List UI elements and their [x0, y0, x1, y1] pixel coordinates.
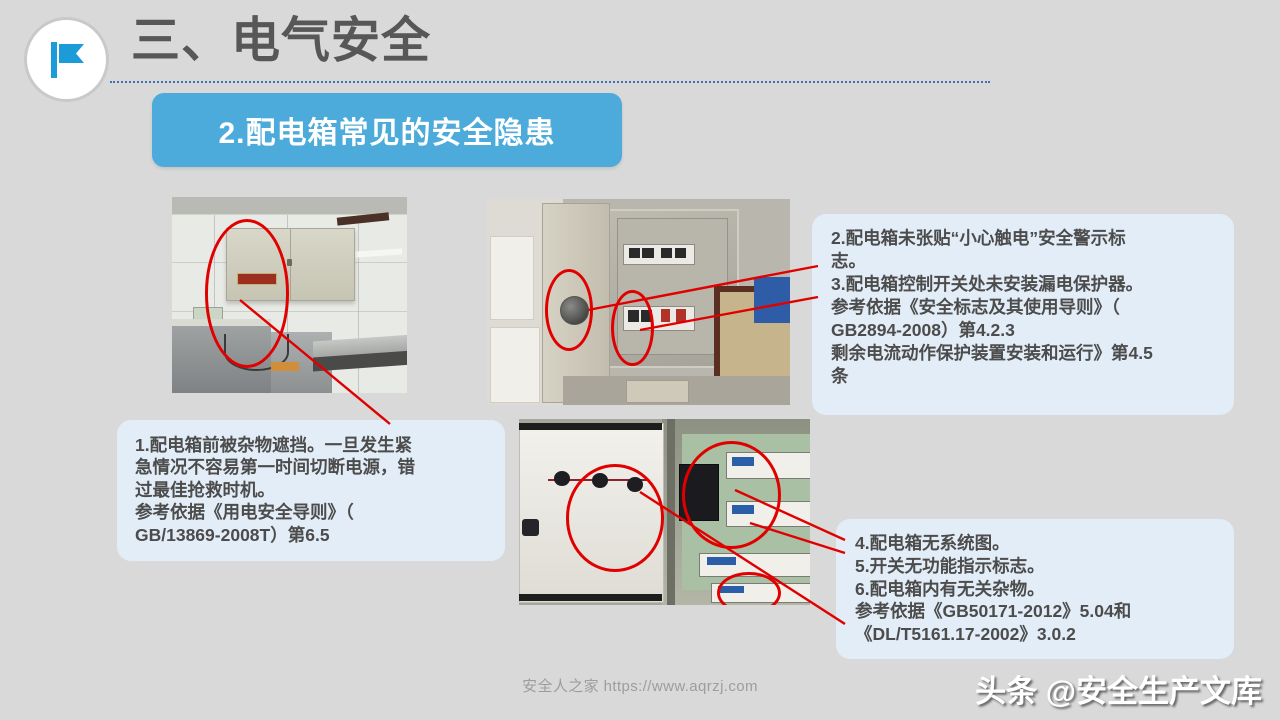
- callout-line: 《DL/T5161.17-2002》3.0.2: [855, 623, 1220, 646]
- callout-line: 剩余电流动作保护装置安装和运行》第4.5: [831, 342, 1220, 365]
- flag-icon: [44, 37, 90, 83]
- annotation-ellipse: [545, 269, 593, 351]
- slide-canvas: 三、电气安全 2.配电箱常见的安全隐患: [0, 0, 1280, 720]
- page-title: 三、电气安全: [131, 12, 431, 71]
- annotation-ellipse: [205, 219, 290, 368]
- callout-line: 1.配电箱前被杂物遮挡。一旦发生紧: [135, 434, 489, 456]
- callout-line: 参考依据《安全标志及其使用导则》（: [831, 296, 1220, 319]
- callout-box-1: 1.配电箱前被杂物遮挡。一旦发生紧 急情况不容易第一时间切断电源，错 过最佳抢救…: [117, 420, 505, 561]
- annotation-ellipse: [682, 441, 781, 549]
- callout-line: 3.配电箱控制开关处未安装漏电保护器。: [831, 273, 1220, 296]
- photo-distribution-box: [487, 199, 790, 405]
- callout-line: 条: [831, 365, 1220, 388]
- callout-line: 过最佳抢救时机。: [135, 479, 489, 501]
- callout-line: 志。: [831, 250, 1220, 273]
- annotation-ellipse: [566, 464, 665, 572]
- callout-line: 6.配电箱内有无关杂物。: [855, 578, 1220, 601]
- flag-badge: [24, 17, 109, 102]
- callout-line: 4.配电箱无系统图。: [855, 532, 1220, 555]
- annotation-ellipse: [611, 290, 653, 366]
- callout-line: GB2894-2008）第4.2.3: [831, 319, 1220, 342]
- brand-watermark: 头条 @安全生产文库: [975, 666, 1262, 711]
- title-divider: [110, 81, 990, 83]
- section-banner: 2.配电箱常见的安全隐患: [152, 93, 622, 167]
- callout-line: 参考依据《用电安全导则》（: [135, 501, 489, 523]
- callout-line: 急情况不容易第一时间切断电源，错: [135, 456, 489, 478]
- photo-kitchen-cabinet: [172, 197, 407, 393]
- photo-industrial-panel: [519, 419, 810, 605]
- callout-box-3: 4.配电箱无系统图。 5.开关无功能指示标志。 6.配电箱内有无关杂物。 参考依…: [836, 519, 1234, 659]
- callout-line: 2.配电箱未张贴“小心触电”安全警示标: [831, 227, 1220, 250]
- callout-box-2: 2.配电箱未张贴“小心触电”安全警示标 志。 3.配电箱控制开关处未安装漏电保护…: [812, 214, 1234, 415]
- callout-line: 参考依据《GB50171-2012》5.04和: [855, 600, 1220, 623]
- callout-line: 5.开关无功能指示标志。: [855, 555, 1220, 578]
- callout-line: GB/13869-2008T）第6.5: [135, 524, 489, 546]
